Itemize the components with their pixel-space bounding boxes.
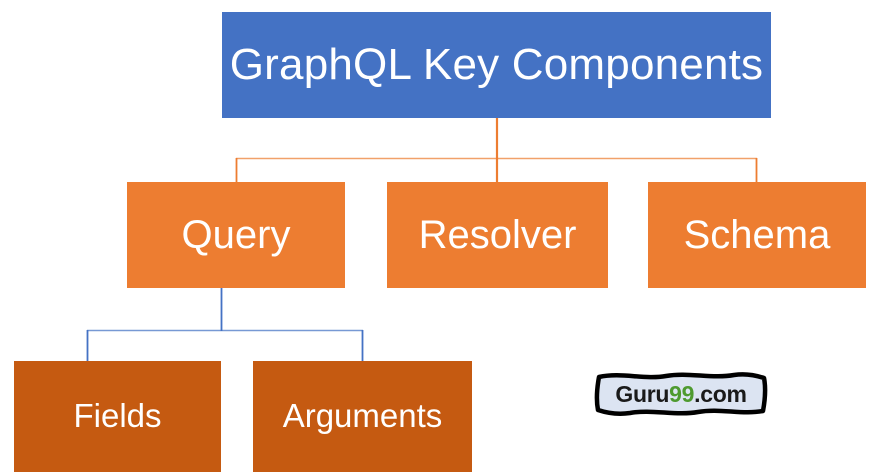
node-schema-label: Schema	[684, 214, 831, 256]
watermark-suffix: .com	[694, 381, 746, 408]
node-graphql-key-components: GraphQL Key Components	[222, 12, 771, 118]
node-query: Query	[127, 182, 345, 288]
node-fields-label: Fields	[73, 399, 161, 434]
node-arguments-label: Arguments	[283, 399, 443, 434]
node-resolver: Resolver	[387, 182, 608, 288]
diagram-canvas: GraphQL Key Components Query Resolver Sc…	[0, 0, 884, 472]
watermark-prefix: Guru	[615, 381, 669, 408]
watermark-text: Guru99.com	[592, 366, 770, 422]
edge-query-to-level3	[87, 288, 363, 361]
node-arguments: Arguments	[253, 361, 472, 472]
watermark-highlight: 99	[669, 381, 694, 408]
node-title-label: GraphQL Key Components	[230, 42, 764, 88]
edge-title-to-level2	[236, 118, 757, 182]
node-resolver-label: Resolver	[419, 214, 577, 256]
node-query-label: Query	[182, 214, 291, 256]
guru99-watermark: Guru99.com	[592, 366, 770, 422]
node-schema: Schema	[648, 182, 866, 288]
node-fields: Fields	[14, 361, 221, 472]
